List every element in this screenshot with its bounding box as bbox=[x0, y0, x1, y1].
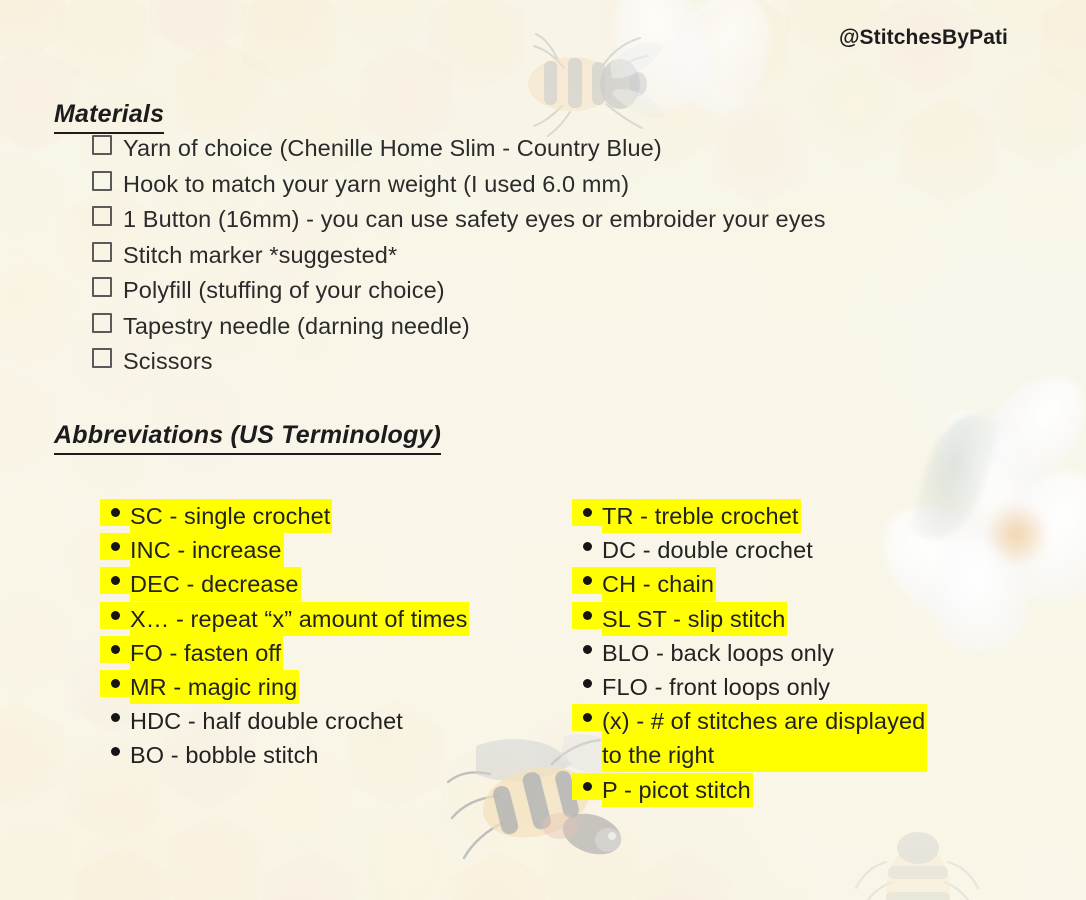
abbreviation-item: SC - single crochet bbox=[100, 499, 469, 533]
abbreviation-label: SC - single crochet bbox=[130, 499, 332, 533]
bullet-icon bbox=[100, 499, 130, 526]
abbreviation-label: BLO - back loops only bbox=[602, 636, 834, 670]
abbreviation-label: DEC - decrease bbox=[130, 567, 301, 601]
abbreviation-item: SL ST - slip stitch bbox=[572, 602, 927, 636]
abbreviation-item: P - picot stitch bbox=[572, 773, 927, 807]
abbreviation-label: MR - magic ring bbox=[130, 670, 299, 704]
abbreviation-label: HDC - half double crochet bbox=[130, 704, 403, 738]
checkbox-icon[interactable] bbox=[92, 277, 112, 297]
watermark-handle: @StitchesByPati bbox=[839, 26, 1008, 50]
bullet-icon bbox=[100, 567, 130, 594]
bullet-icon bbox=[572, 499, 602, 526]
abbreviation-item: CH - chain bbox=[572, 567, 927, 601]
abbreviations-right-column: TR - treble crochetDC - double crochetCH… bbox=[572, 499, 927, 807]
abbreviation-item: X… - repeat “x” amount of times bbox=[100, 602, 469, 636]
material-item-label: Hook to match your yarn weight (I used 6… bbox=[123, 173, 629, 197]
abbreviation-label: INC - increase bbox=[130, 533, 284, 567]
abbreviation-label: CH - chain bbox=[602, 567, 716, 601]
abbreviation-label: P - picot stitch bbox=[602, 773, 753, 807]
abbreviation-label: BO - bobble stitch bbox=[130, 738, 319, 772]
bullet-icon bbox=[572, 704, 602, 731]
abbreviation-item: MR - magic ring bbox=[100, 670, 469, 704]
material-item[interactable]: Tapestry needle (darning needle) bbox=[92, 314, 826, 350]
bullet-icon bbox=[100, 738, 130, 765]
bullet-icon bbox=[572, 567, 602, 594]
material-item-label: 1 Button (16mm) - you can use safety eye… bbox=[123, 208, 826, 232]
abbreviation-item: BO - bobble stitch bbox=[100, 738, 469, 772]
abbreviation-item: FLO - front loops only bbox=[572, 670, 927, 704]
bullet-icon bbox=[100, 533, 130, 560]
abbreviation-item: DC - double crochet bbox=[572, 533, 927, 567]
checkbox-icon[interactable] bbox=[92, 313, 112, 333]
abbreviation-label: X… - repeat “x” amount of times bbox=[130, 602, 469, 636]
bullet-icon bbox=[572, 533, 602, 560]
bullet-icon bbox=[572, 636, 602, 663]
bullet-icon bbox=[100, 602, 130, 629]
material-item-label: Stitch marker *suggested* bbox=[123, 244, 397, 268]
abbreviation-label: FO - fasten off bbox=[130, 636, 283, 670]
checkbox-icon[interactable] bbox=[92, 348, 112, 368]
bullet-icon bbox=[572, 773, 602, 800]
material-item[interactable]: Yarn of choice (Chenille Home Slim - Cou… bbox=[92, 136, 826, 172]
abbreviations-heading: Abbreviations (US Terminology) bbox=[54, 421, 441, 455]
bullet-icon bbox=[100, 636, 130, 663]
material-item-label: Yarn of choice (Chenille Home Slim - Cou… bbox=[123, 137, 662, 161]
pattern-page: @StitchesByPati Materials Yarn of choice… bbox=[0, 0, 1086, 900]
abbreviation-label: DC - double crochet bbox=[602, 533, 813, 567]
materials-checklist: Yarn of choice (Chenille Home Slim - Cou… bbox=[92, 136, 826, 385]
abbreviation-item: INC - increase bbox=[100, 533, 469, 567]
bullet-icon bbox=[572, 670, 602, 697]
abbreviation-label: SL ST - slip stitch bbox=[602, 602, 787, 636]
checkbox-icon[interactable] bbox=[92, 206, 112, 226]
abbreviation-item: (x) - # of stitches are displayedto the … bbox=[572, 704, 927, 772]
bullet-icon bbox=[100, 704, 130, 731]
material-item[interactable]: Polyfill (stuffing of your choice) bbox=[92, 278, 826, 314]
material-item[interactable]: 1 Button (16mm) - you can use safety eye… bbox=[92, 207, 826, 243]
bullet-icon bbox=[100, 670, 130, 697]
checkbox-icon[interactable] bbox=[92, 242, 112, 262]
bullet-icon bbox=[572, 602, 602, 629]
abbreviation-item: BLO - back loops only bbox=[572, 636, 927, 670]
materials-heading: Materials bbox=[54, 100, 164, 134]
abbreviation-label: FLO - front loops only bbox=[602, 670, 830, 704]
material-item-label: Tapestry needle (darning needle) bbox=[123, 315, 470, 339]
abbreviation-item: HDC - half double crochet bbox=[100, 704, 469, 738]
material-item[interactable]: Hook to match your yarn weight (I used 6… bbox=[92, 172, 826, 208]
abbreviations-left-column: SC - single crochetINC - increaseDEC - d… bbox=[100, 499, 469, 773]
abbreviation-item: TR - treble crochet bbox=[572, 499, 927, 533]
page-content: @StitchesByPati Materials Yarn of choice… bbox=[0, 0, 1086, 900]
abbreviation-item: FO - fasten off bbox=[100, 636, 469, 670]
material-item-label: Polyfill (stuffing of your choice) bbox=[123, 279, 445, 303]
checkbox-icon[interactable] bbox=[92, 171, 112, 191]
material-item-label: Scissors bbox=[123, 350, 213, 374]
abbreviation-label: (x) - # of stitches are displayedto the … bbox=[602, 704, 927, 772]
material-item[interactable]: Stitch marker *suggested* bbox=[92, 243, 826, 279]
abbreviation-label: TR - treble crochet bbox=[602, 499, 801, 533]
checkbox-icon[interactable] bbox=[92, 135, 112, 155]
abbreviation-item: DEC - decrease bbox=[100, 567, 469, 601]
material-item[interactable]: Scissors bbox=[92, 349, 826, 385]
